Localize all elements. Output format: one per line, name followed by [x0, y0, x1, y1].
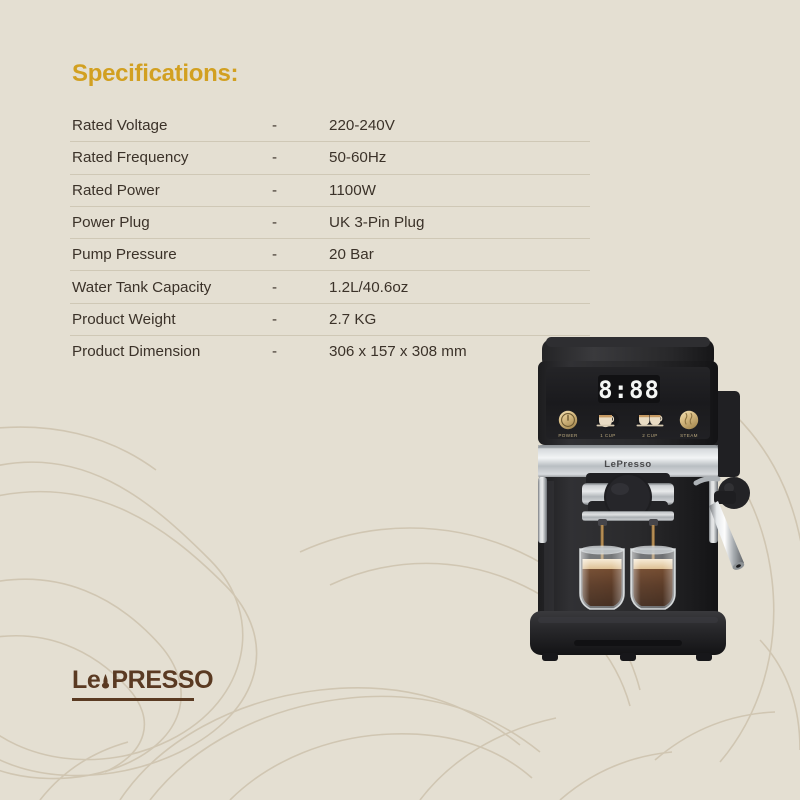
table-row: Product Dimension - 306 x 157 x 308 mm	[70, 336, 590, 367]
machine-brand-plate: LePresso	[604, 459, 652, 470]
espresso-cup	[631, 546, 675, 609]
spec-label: Rated Power	[70, 182, 272, 199]
digital-display: 8:88	[598, 375, 660, 404]
one-cup-button-label: 1 CUP	[600, 433, 616, 438]
table-row: Rated Voltage - 220-240V	[70, 110, 590, 142]
table-row: Rated Frequency - 50-60Hz	[70, 142, 590, 174]
spec-separator: -	[272, 246, 329, 263]
spec-value: 1100W	[329, 182, 590, 199]
spec-label: Water Tank Capacity	[70, 279, 272, 296]
two-cup-button-label: 2 CUP	[642, 433, 658, 438]
specifications-table: Rated Voltage - 220-240V Rated Frequency…	[70, 110, 590, 367]
base-foot	[620, 653, 636, 661]
spec-separator: -	[272, 182, 329, 199]
steam-button[interactable]: STEAM	[680, 411, 698, 438]
product-spec-card: Specifications: Rated Voltage - 220-240V…	[0, 0, 800, 800]
brand-logo-accent-letter: e	[87, 668, 101, 693]
brand-logo-prefix: L	[72, 668, 87, 693]
coffee-bean-icon	[100, 674, 111, 688]
left-chrome-strip	[538, 477, 547, 543]
spec-separator: -	[272, 343, 329, 360]
spec-label: Product Dimension	[70, 343, 272, 360]
spec-label: Product Weight	[70, 311, 272, 328]
brand-logo-suffix: PRESSO	[111, 668, 213, 693]
spec-label: Rated Voltage	[70, 117, 272, 134]
table-row: Rated Power - 1100W	[70, 175, 590, 207]
spec-label: Power Plug	[70, 214, 272, 231]
table-row: Power Plug - UK 3-Pin Plug	[70, 207, 590, 239]
power-button[interactable]: POWER	[558, 411, 578, 438]
drip-tray	[530, 611, 726, 661]
spec-value: 50-60Hz	[329, 149, 590, 166]
spec-value: 20 Bar	[329, 246, 590, 263]
spec-separator: -	[272, 214, 329, 231]
spec-separator: -	[272, 149, 329, 166]
spec-separator: -	[272, 311, 329, 328]
spec-value: 220-240V	[329, 117, 590, 134]
table-row: Water Tank Capacity - 1.2L/40.6oz	[70, 271, 590, 303]
espresso-cup	[580, 546, 624, 609]
control-panel: 8:88 POWER 1 CUP	[538, 361, 718, 445]
brand-wordmark: L e PRESSO	[72, 668, 272, 693]
brand-underline	[72, 698, 194, 701]
power-button-label: POWER	[558, 433, 578, 438]
one-cup-button[interactable]: 1 CUP	[597, 411, 620, 438]
spec-value: 1.2L/40.6oz	[329, 279, 590, 296]
portafilter	[582, 473, 674, 526]
table-row: Pump Pressure - 20 Bar	[70, 239, 590, 271]
display-value: 8:88	[598, 376, 660, 404]
base-foot	[696, 653, 712, 661]
specifications-panel: Specifications: Rated Voltage - 220-240V…	[70, 60, 590, 367]
spec-separator: -	[272, 117, 329, 134]
spec-separator: -	[272, 279, 329, 296]
brand-logo: L e PRESSO	[72, 668, 272, 701]
product-image-espresso-machine: 8:88 POWER 1 CUP	[520, 325, 800, 685]
base-foot	[542, 653, 558, 661]
steam-button-label: STEAM	[680, 433, 698, 438]
spec-value: UK 3-Pin Plug	[329, 214, 590, 231]
spec-label: Rated Frequency	[70, 149, 272, 166]
page-title: Specifications:	[72, 60, 590, 88]
spec-label: Pump Pressure	[70, 246, 272, 263]
table-row: Product Weight - 2.7 KG	[70, 304, 590, 336]
